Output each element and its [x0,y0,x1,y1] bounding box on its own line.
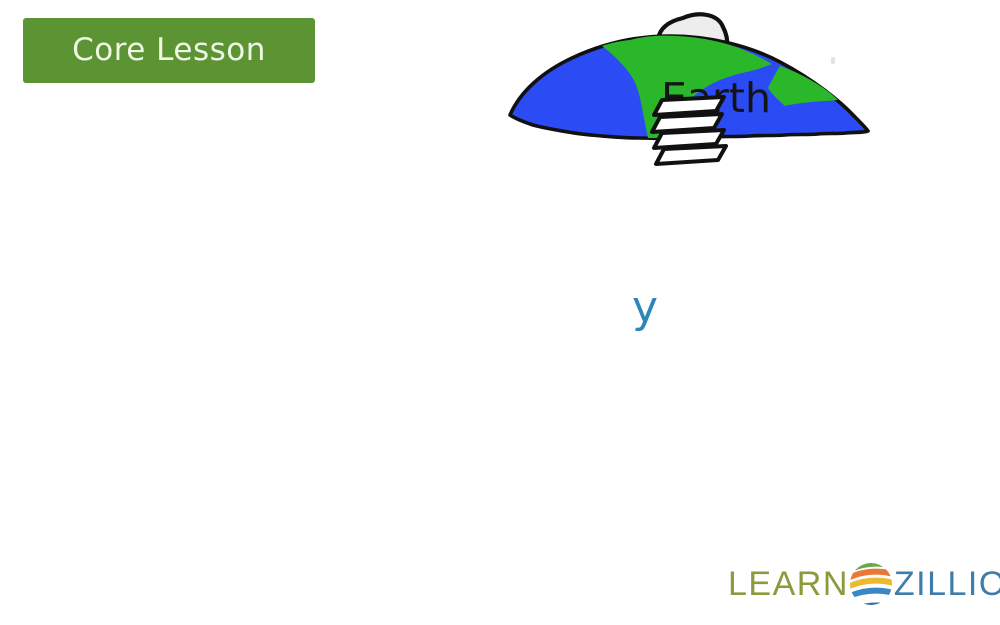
core-lesson-banner-label: Core Lesson [72,35,266,66]
logo-word-learn: LEARN [728,567,849,601]
earth-landmass-secondary [768,66,838,106]
paper-stack-drawing [652,97,726,164]
core-lesson-banner: Core Lesson [23,18,315,83]
logo-word-zillion: ZILLION [894,567,1000,601]
paper-sheet-2 [652,114,722,132]
variable-y-annotation: y [632,286,658,330]
earth-moon-diagram: Moon Earth [480,0,920,360]
learnzillion-logo: LEARN ZILLION [728,560,986,608]
logo-globe-icon [845,558,897,610]
paper-sheet-1 [654,97,724,115]
slide-canvas: Core Lesson Moon Earth [0,0,1000,625]
stray-mark-artifact [831,57,835,64]
